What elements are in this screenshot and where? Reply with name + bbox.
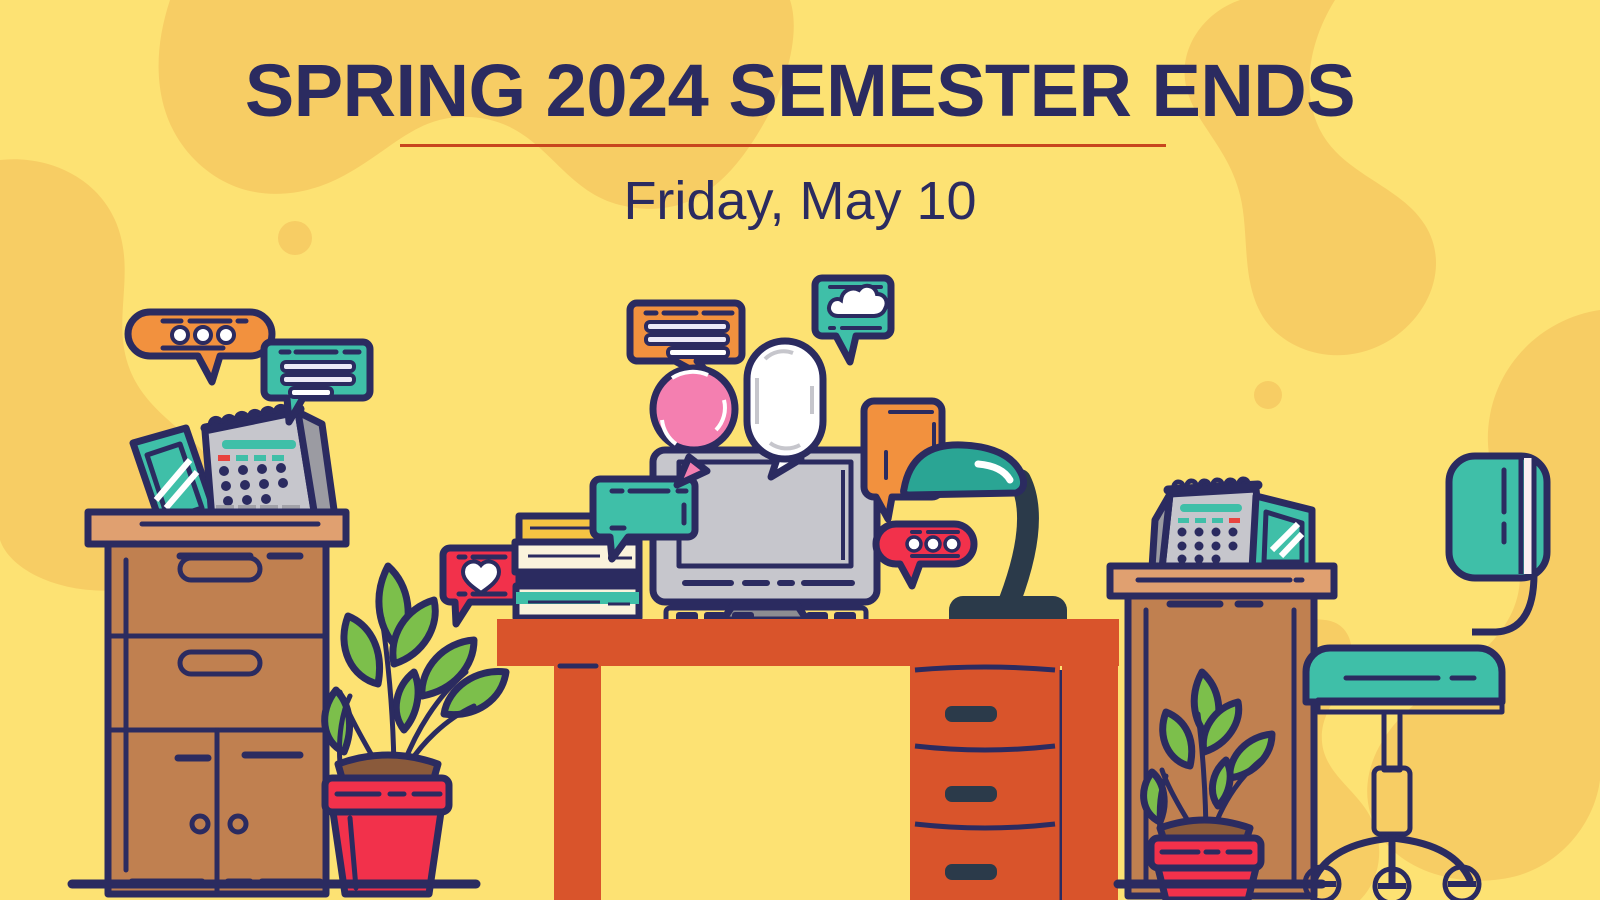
- office-chair: [1305, 456, 1547, 900]
- bubble-cloud-teal: [815, 278, 891, 362]
- left-cabinet-top: [88, 512, 346, 544]
- desk-leg-left: [554, 666, 601, 900]
- desk: [497, 619, 1119, 900]
- left-desk-calendar: [205, 407, 335, 519]
- right-desk-calendar: [1152, 479, 1264, 568]
- desk-drawer-1-handle: [945, 706, 997, 722]
- office-desk-illustration: .ink { stroke:#2B2B60; stroke-width:7; s…: [0, 0, 1600, 900]
- bubble-heart-red: [443, 548, 519, 624]
- bubble-dots-red: [876, 524, 974, 586]
- left-potted-plant: [325, 566, 506, 894]
- desk-drawer-3-handle: [945, 864, 997, 880]
- left-filing-cabinet: [88, 407, 346, 894]
- desk-top: [497, 619, 1119, 666]
- poster-canvas: .ink { stroke:#2B2B60; stroke-width:7; s…: [0, 0, 1600, 900]
- desk-drawer-unit: [910, 666, 1118, 900]
- bubble-dots-orange: [128, 312, 272, 382]
- right-tablet: [1252, 496, 1312, 570]
- desk-drawer-2-handle: [945, 786, 997, 802]
